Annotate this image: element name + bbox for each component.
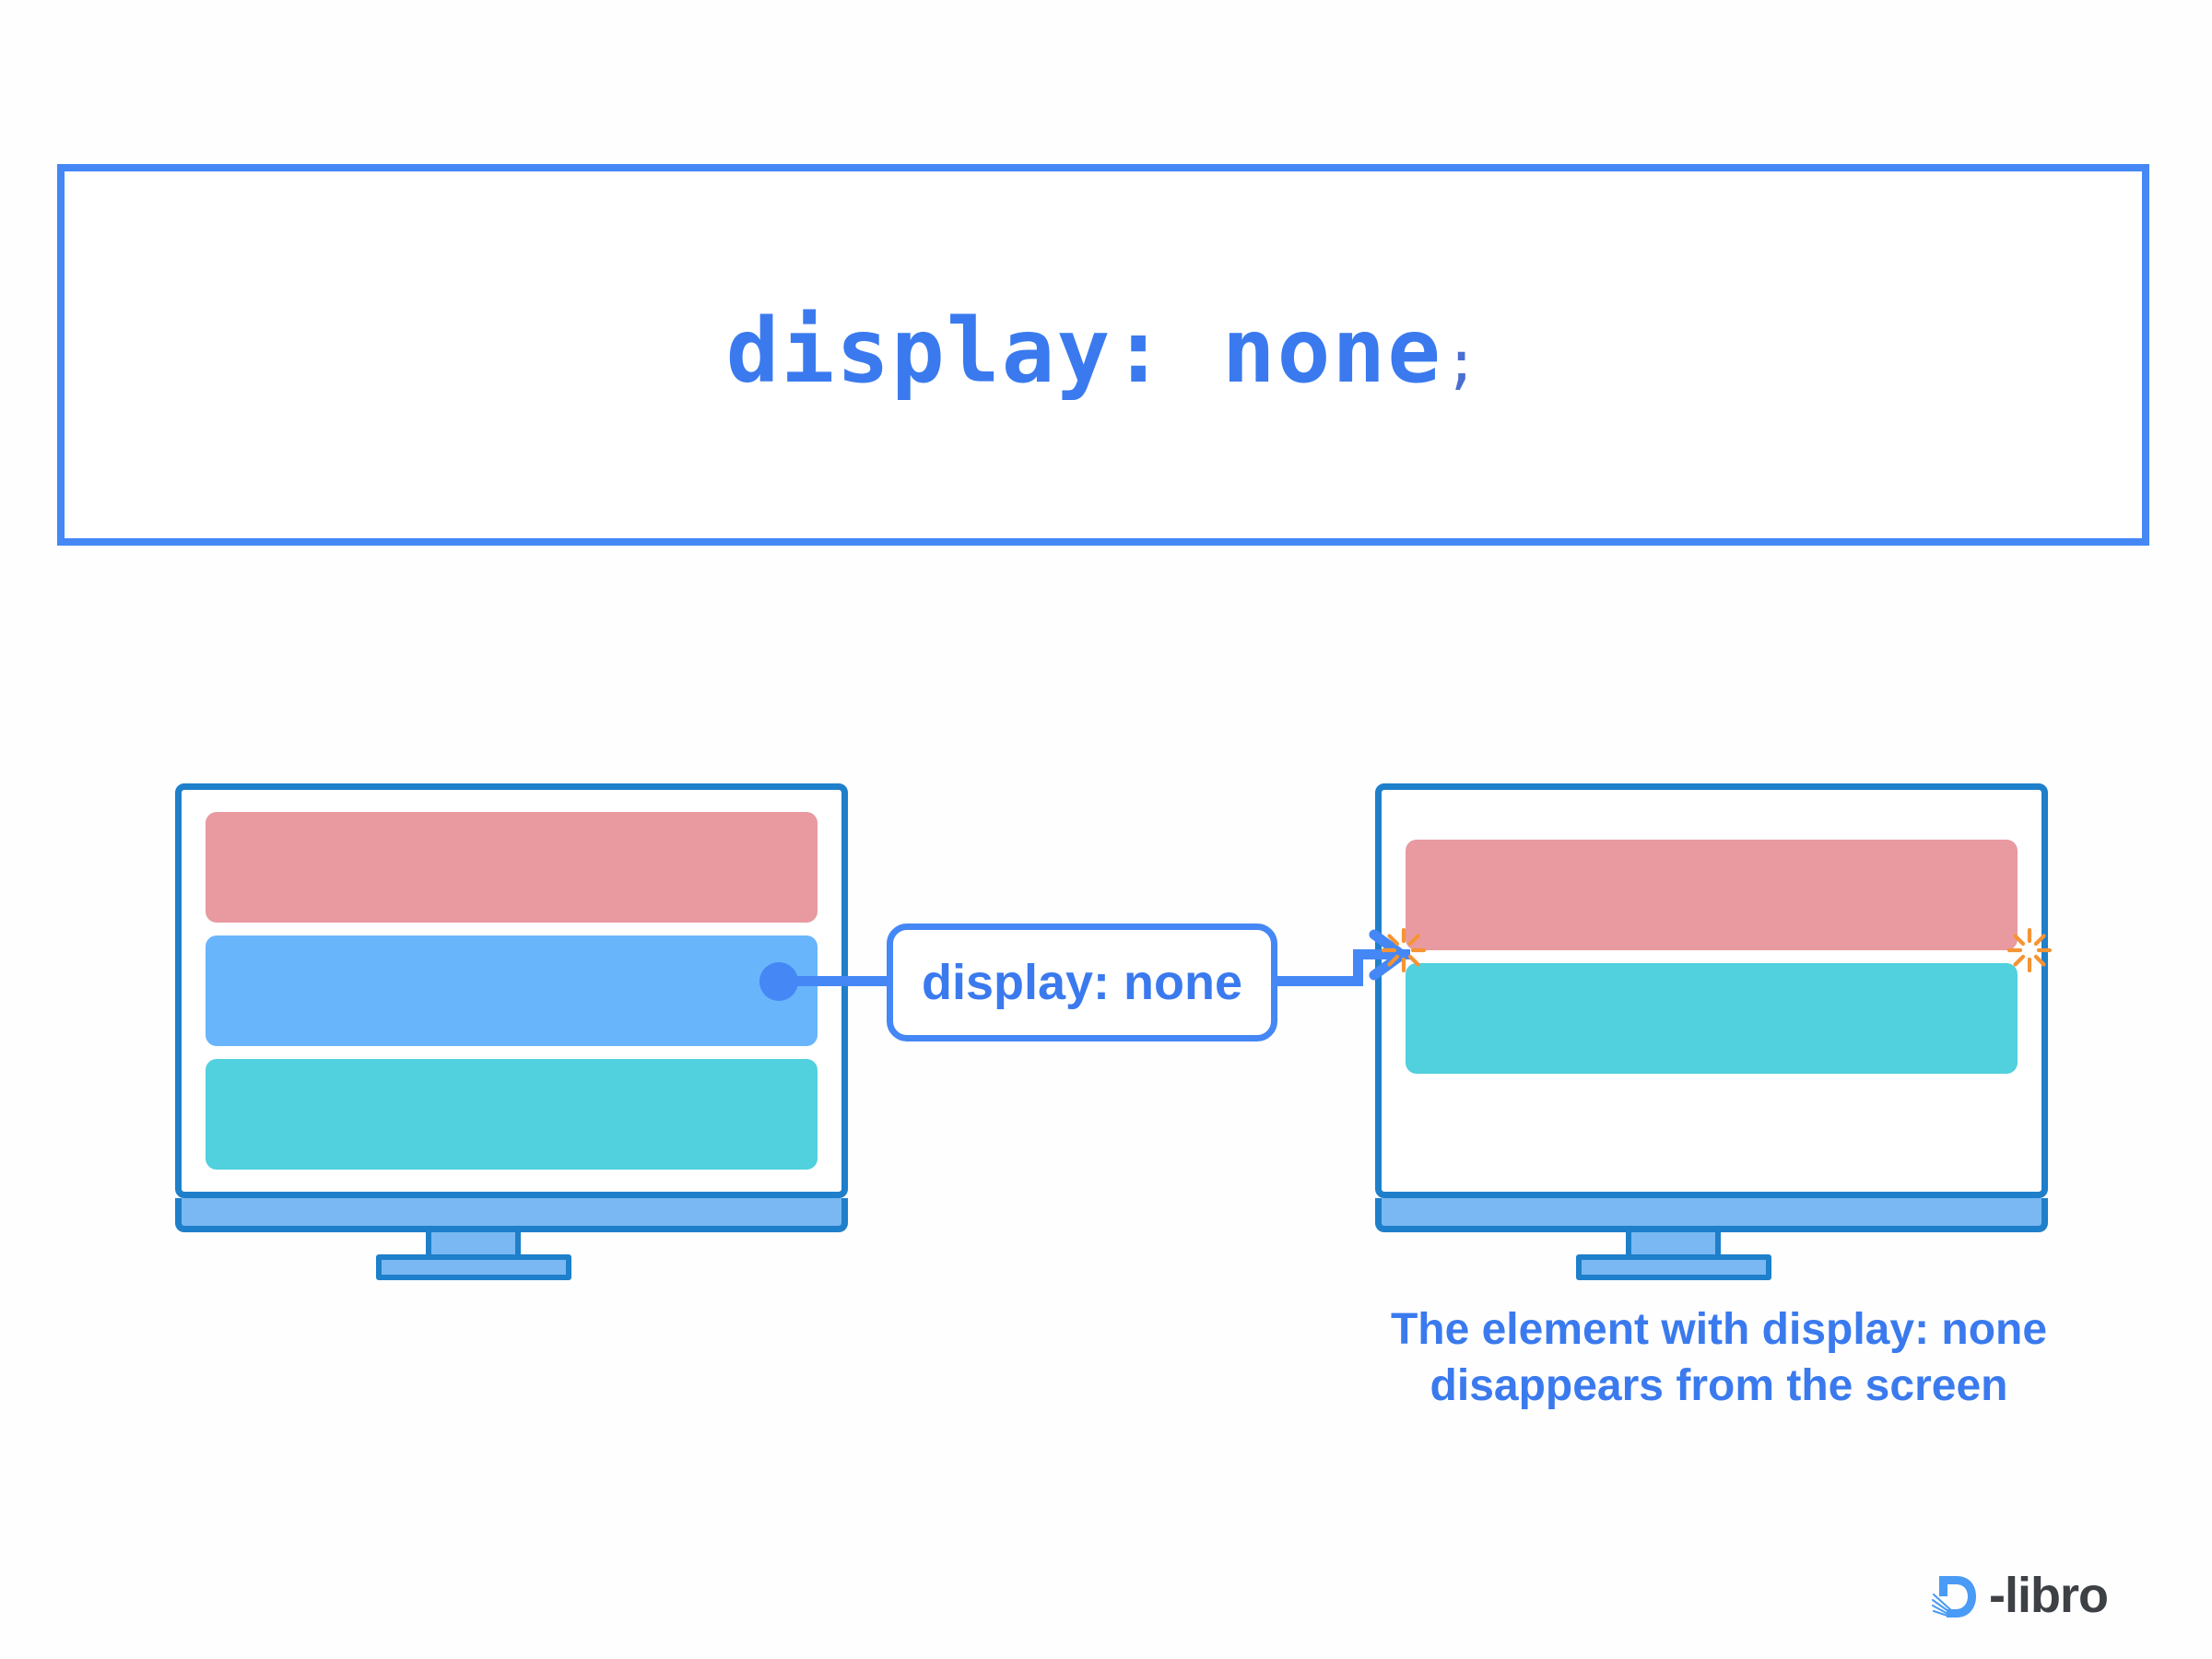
arrow-segment-horizontal-lower — [1273, 976, 1363, 986]
after-monitor-foot — [1576, 1254, 1771, 1280]
sparkle-right-icon — [2006, 926, 2053, 974]
before-monitor-foot — [376, 1254, 571, 1280]
after-monitor-screen — [1382, 790, 2041, 1192]
code-declaration-line: display: none ; — [726, 300, 1481, 403]
code-declaration-text: display: none — [726, 300, 1442, 403]
callout-connector-dot — [759, 962, 798, 1001]
code-semicolon: ; — [1444, 328, 1480, 395]
before-block-blue — [206, 935, 818, 1046]
sparkle-left-icon — [1380, 926, 1428, 974]
before-block-teal — [206, 1059, 818, 1170]
after-block-teal — [1406, 963, 2018, 1074]
before-block-pink — [206, 812, 818, 923]
display-none-callout: display: none — [887, 924, 1277, 1041]
before-monitor-base-bar — [175, 1198, 848, 1232]
brand-logo-text: -libro — [1989, 1571, 2108, 1620]
callout-label: display: none — [922, 954, 1242, 1011]
code-declaration-box: display: none ; — [57, 164, 2149, 546]
result-caption-line-1: The element with display: none — [1355, 1301, 2083, 1358]
before-monitor-screen — [182, 790, 841, 1192]
result-caption-line-2: disappears from the screen — [1355, 1358, 2083, 1414]
after-monitor-base-bar — [1375, 1198, 2048, 1232]
brand-logo: -libro — [1928, 1569, 2108, 1626]
d-libro-book-icon — [1928, 1569, 1985, 1626]
result-caption: The element with display: none disappear… — [1355, 1301, 2083, 1415]
after-block-pink — [1406, 840, 2018, 950]
callout-connector-line — [788, 976, 894, 986]
